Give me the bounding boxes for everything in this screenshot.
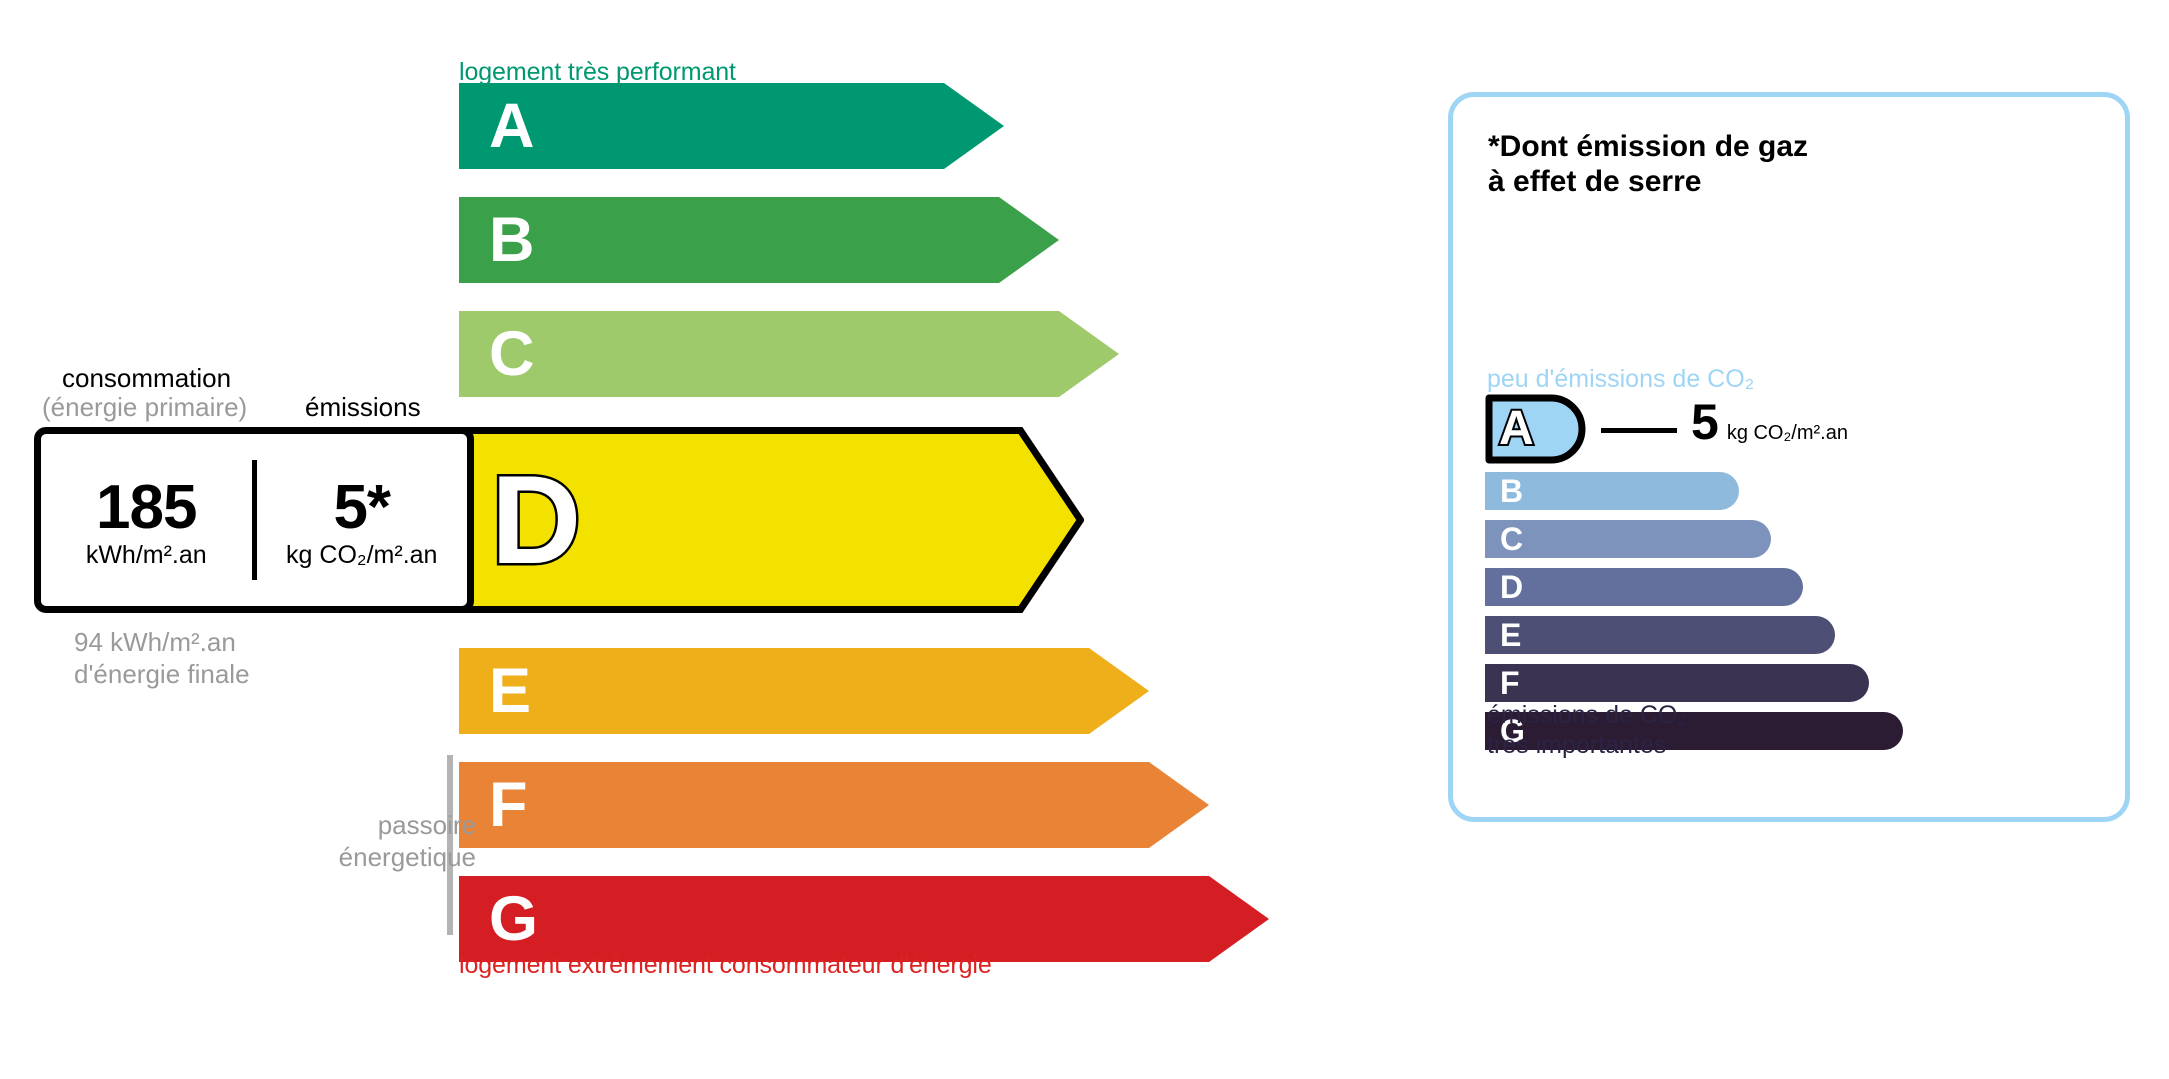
passoire-energetique-label: passoire énergetique <box>286 810 476 874</box>
ges-current-class-badge: A <box>1485 394 1589 464</box>
consumption-unit: kWh/m².an <box>86 541 207 570</box>
ges-bar-letter: D <box>1500 571 1523 603</box>
energy-band-letter: E <box>489 660 531 723</box>
energy-band-letter: A <box>489 95 535 158</box>
ges-panel: *Dont émission de gaz à effet de serre p… <box>1448 92 2130 822</box>
ges-bar-letter: F <box>1500 667 1520 699</box>
ges-bar-f: F <box>1485 664 1869 702</box>
ges-top-caption: peu d'émissions de CO₂ <box>1487 365 1754 394</box>
ges-badge-letter: A <box>1499 405 1534 453</box>
energy-band-a: A <box>459 83 1004 169</box>
ges-value-group: 5 kg CO₂/m².an <box>1691 397 1848 447</box>
ges-bar-b: B <box>1485 472 1739 510</box>
consumption-cell: 185 kWh/m².an <box>41 434 252 606</box>
dpe-ges-diagram: logement très performant ABCDEFG 185 kWh… <box>0 0 2169 1079</box>
energy-band-d: D <box>459 427 1084 613</box>
energy-band-letter: F <box>489 774 527 837</box>
ges-bar-c: C <box>1485 520 1771 558</box>
emission-value: 5* <box>333 476 390 539</box>
energy-band-letter: D <box>491 458 581 583</box>
emission-unit: kg CO₂/m².an <box>286 541 437 570</box>
ges-bar-e: E <box>1485 616 1835 654</box>
energy-performance-panel: logement très performant ABCDEFG 185 kWh… <box>0 0 1400 1079</box>
ges-leader-line <box>1601 428 1677 433</box>
energy-scale-bottom-caption: logement extrêmement consommateur d'éner… <box>459 951 992 980</box>
energy-band-shape <box>459 648 1149 734</box>
ges-bar-d: D <box>1485 568 1803 606</box>
energy-band-b: B <box>459 197 1059 283</box>
ges-value-unit: kg CO₂/m².an <box>1727 422 1848 445</box>
ges-bottom-caption: émissions de CO₂ très importantes <box>1487 700 1687 760</box>
energy-band-shape <box>459 83 1004 169</box>
consumption-value: 185 <box>96 476 196 539</box>
energy-band-e: E <box>459 648 1149 734</box>
ges-title: *Dont émission de gaz à effet de serre <box>1488 129 1808 200</box>
energie-primaire-label: (énergie primaire) <box>42 392 247 423</box>
ges-bar-letter: E <box>1500 619 1521 651</box>
energy-band-letter: B <box>489 209 535 272</box>
emission-cell: 5* kg CO₂/m².an <box>257 434 468 606</box>
ges-value-number: 5 <box>1691 397 1719 447</box>
energy-band-shape <box>459 197 1059 283</box>
energy-band-f: F <box>459 762 1209 848</box>
energy-band-shape <box>459 762 1209 848</box>
ges-bar-letter: B <box>1500 475 1523 507</box>
energy-band-letter: C <box>489 323 535 386</box>
energy-band-letter: G <box>489 888 538 951</box>
emissions-label: émissions <box>305 392 421 423</box>
ges-bar-letter: C <box>1500 523 1523 555</box>
energie-finale-label: 94 kWh/m².an d'énergie finale <box>74 627 250 691</box>
consommation-label: consommation <box>62 363 231 394</box>
energy-value-box: 185 kWh/m².an 5* kg CO₂/m².an <box>34 427 474 613</box>
energy-band-g: G <box>459 876 1269 962</box>
energy-band-shape <box>459 876 1269 962</box>
energy-band-c: C <box>459 311 1119 397</box>
energy-band-shape <box>459 311 1119 397</box>
